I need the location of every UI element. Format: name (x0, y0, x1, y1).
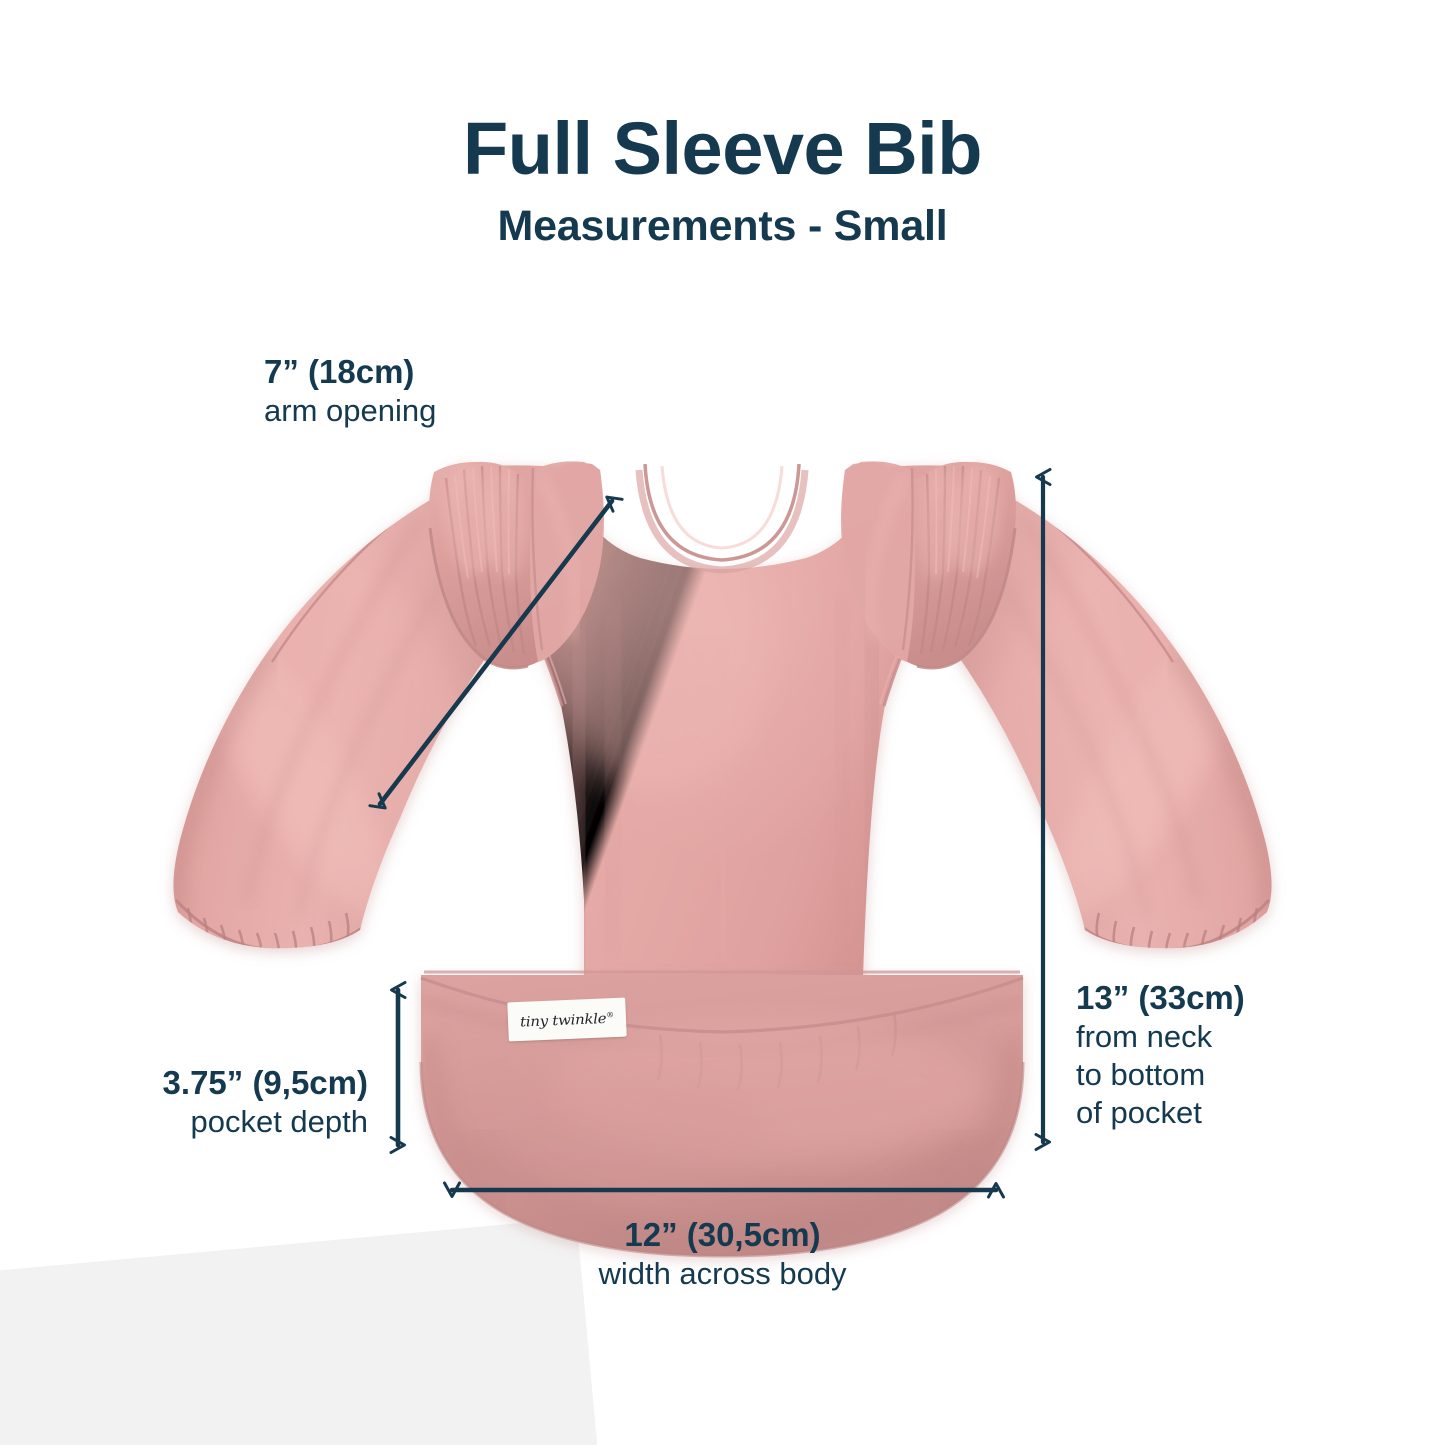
measurement-diagram-page: Full Sleeve Bib Measurements - Small (0, 0, 1445, 1445)
neck-to-pocket-description-line2: to bottom (1076, 1056, 1245, 1094)
measurement-label-pocket-depth: 3.75” (9,5cm) pocket depth (163, 1063, 368, 1141)
width-across-body-description: width across body (0, 1255, 1445, 1293)
measurement-label-neck-to-pocket: 13” (33cm) from neck to bottom of pocket (1076, 978, 1245, 1132)
arm-opening-description: arm opening (264, 392, 436, 430)
arm-opening-value: 7” (18cm) (264, 352, 436, 392)
pocket-depth-description: pocket depth (163, 1103, 368, 1141)
neck-to-pocket-description-line3: of pocket (1076, 1094, 1245, 1132)
neckline (639, 464, 805, 570)
neck-to-pocket-value: 13” (33cm) (1076, 978, 1245, 1018)
width-across-body-value: 12” (30,5cm) (0, 1215, 1445, 1255)
brand-tag: tiny twinkle® (507, 998, 627, 1042)
neck-to-pocket-description-line1: from neck (1076, 1018, 1245, 1056)
pocket-depth-value: 3.75” (9,5cm) (163, 1063, 368, 1103)
brand-tag-text: tiny twinkle® (520, 1009, 615, 1029)
measurement-label-width-across-body: 12” (30,5cm) width across body (0, 1215, 1445, 1293)
measurement-label-arm-opening: 7” (18cm) arm opening (264, 352, 436, 430)
